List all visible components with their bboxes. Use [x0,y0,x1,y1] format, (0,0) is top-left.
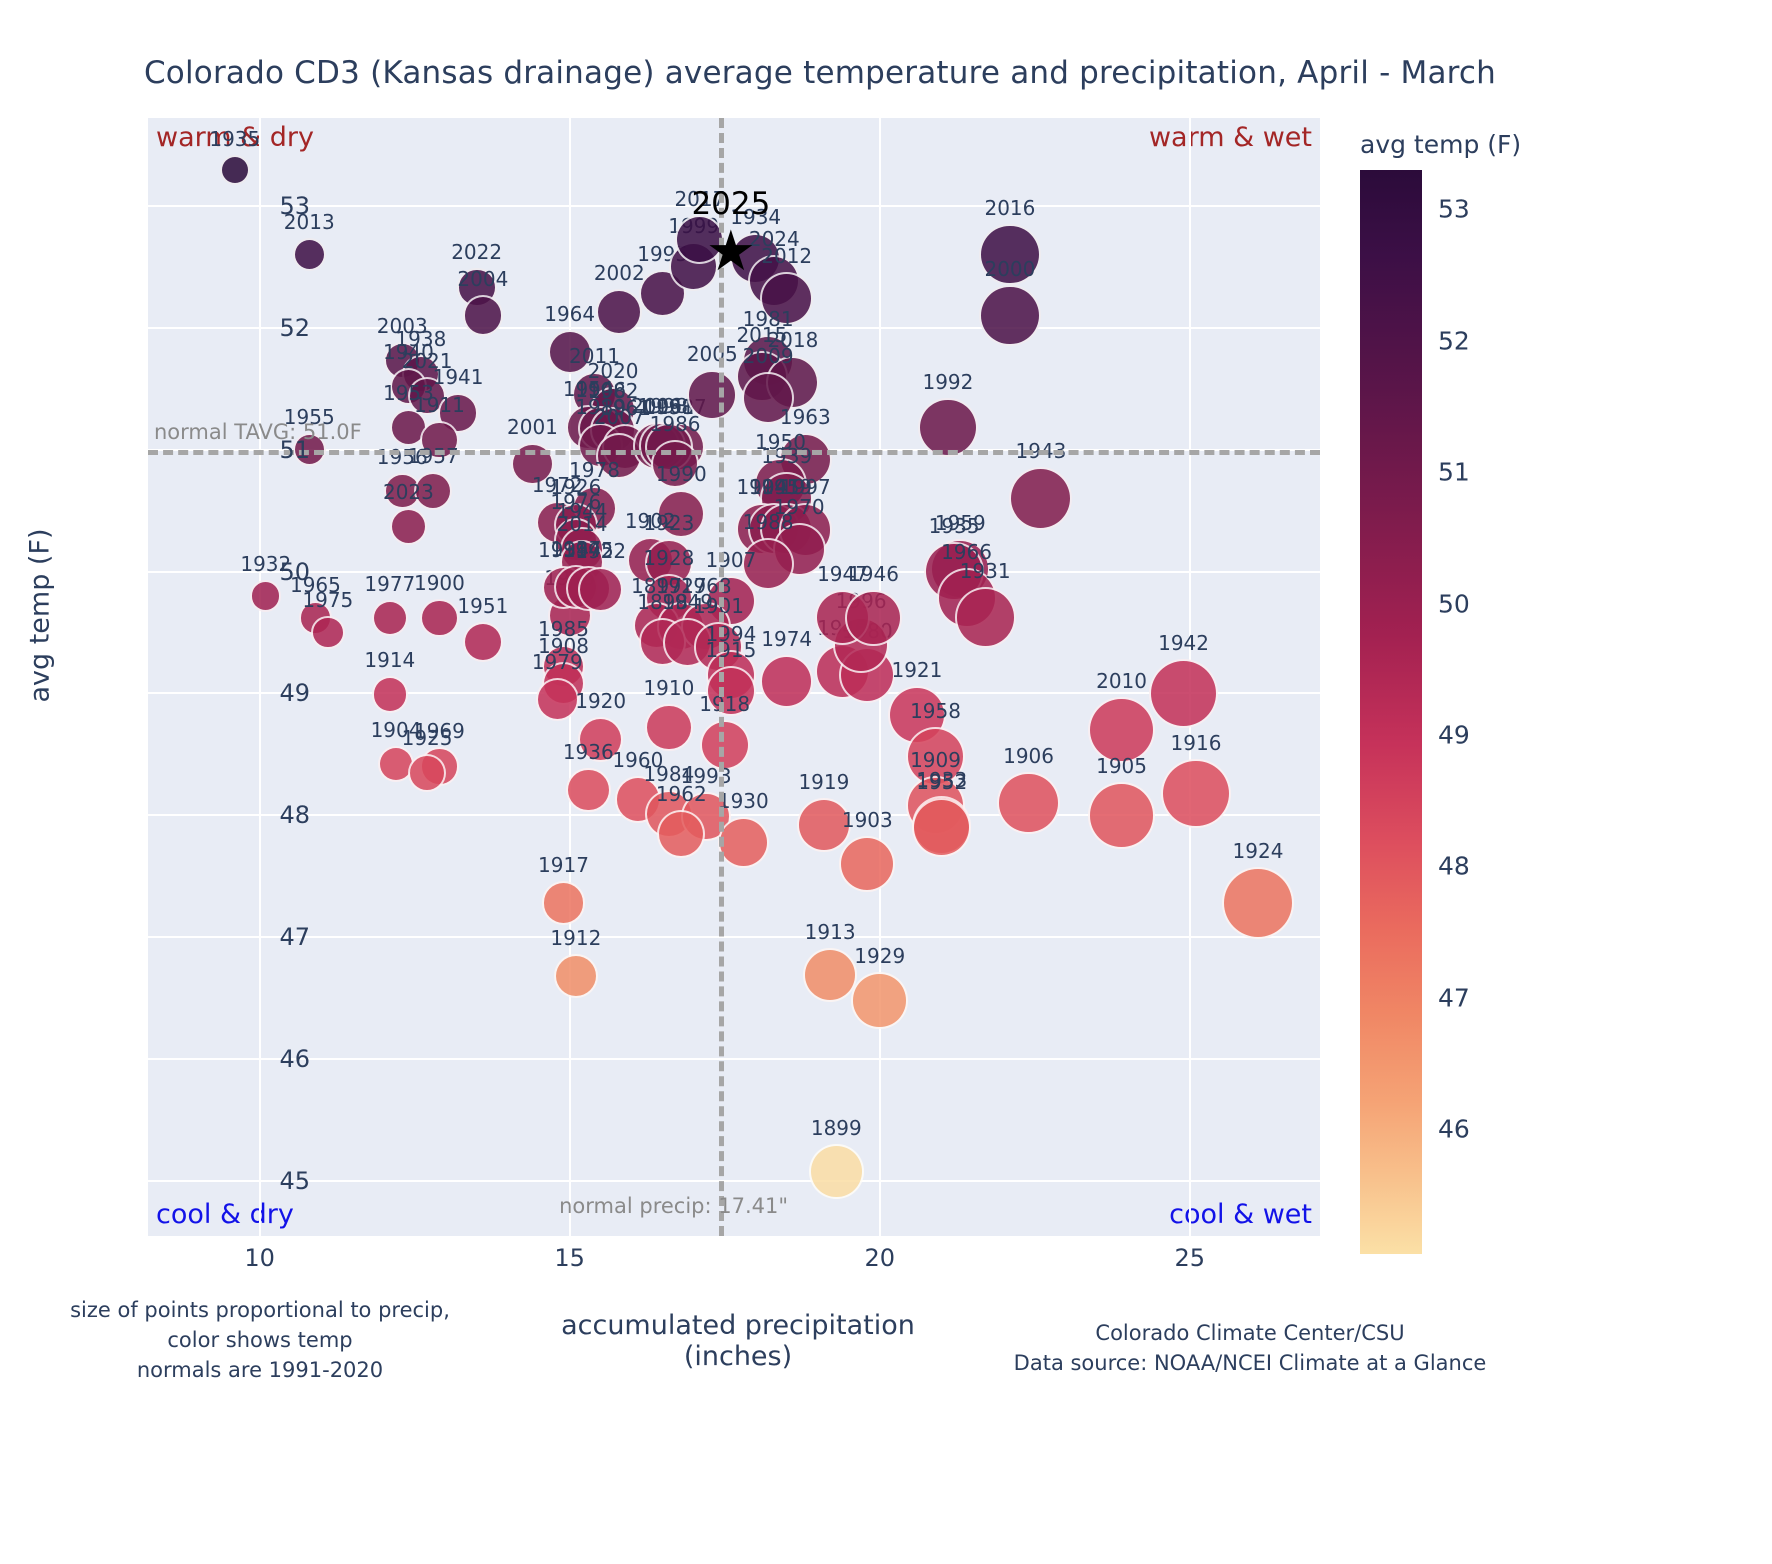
scatter-point[interactable] [311,616,345,650]
colorbar-tick-label: 53 [1438,195,1470,224]
scatter-point[interactable] [463,622,503,662]
point-label: 1935 [929,514,980,538]
scatter-point[interactable] [578,567,623,612]
point-label: 1939 [761,444,812,468]
x-tick-label: 10 [244,1244,275,1272]
point-label: 2005 [687,342,738,366]
point-label: 1912 [550,926,601,950]
x-tick-label: 20 [864,1244,895,1272]
point-label: 2010 [1096,669,1147,693]
y-tick-label: 50 [240,558,310,586]
star-icon: ★ [706,224,756,280]
point-label: 1916 [1171,731,1222,755]
scatter-point[interactable] [955,587,1016,648]
point-label: 1900 [414,571,465,595]
size-note-line3: normals are 1991-2020 [60,1356,460,1386]
scatter-point[interactable] [1161,759,1230,828]
scatter-point[interactable] [687,370,737,420]
point-label: 1952 [916,770,967,794]
y-tick-label: 49 [240,679,310,707]
scatter-point[interactable] [809,1144,864,1199]
y-axis-label: avg temp (F) [25,456,56,776]
scatter-point[interactable] [997,772,1060,835]
point-label: 1924 [1233,839,1284,863]
colorbar-tick-label: 50 [1438,589,1470,618]
scatter-point[interactable] [918,398,977,457]
gridline-horizontal [148,936,1320,938]
point-label: 1979 [532,650,583,674]
colorbar-tick-label: 49 [1438,720,1470,749]
colorbar-title: avg temp (F) [1360,130,1521,159]
point-label: 1911 [414,393,465,417]
y-tick-label: 46 [240,1045,310,1073]
point-label: 1913 [805,920,856,944]
point-label: 1946 [848,562,899,586]
x-axis-label: accumulated precipitation (inches) [508,1310,968,1372]
point-label: 1906 [1003,744,1054,768]
scatter-point[interactable] [542,881,585,924]
point-label: 1962 [656,782,707,806]
point-label: 1951 [457,594,508,618]
point-label: 2023 [383,480,434,504]
point-label: 1931 [960,559,1011,583]
colorbar-gradient [1360,170,1422,1254]
y-tick-label: 48 [240,801,310,829]
point-label: 1941 [433,365,484,389]
scatter-point[interactable] [390,508,427,545]
point-label: 2000 [984,257,1035,281]
scatter-point[interactable] [851,972,907,1028]
colorbar: avg temp (F) 5352515049484746 [1352,118,1772,1278]
colorbar-tick-label: 52 [1438,326,1470,355]
scatter-point[interactable] [408,754,446,792]
scatter-point[interactable] [845,590,901,646]
scatter-point[interactable] [1222,867,1294,939]
point-label: 1917 [538,853,589,877]
point-label: 2012 [761,244,812,268]
point-label: 1942 [1158,631,1209,655]
scatter-point[interactable] [760,655,813,708]
scatter-point[interactable] [645,704,693,752]
point-label: 1907 [705,548,756,572]
point-label: 1928 [643,546,694,570]
point-label: 1920 [575,689,626,713]
point-label: 1925 [402,726,453,750]
quadrant-label-cool-dry: cool & dry [156,1199,294,1230]
normal-tavg-line [148,450,1320,455]
y-tick-label: 47 [240,923,310,951]
gridline-horizontal [148,1058,1320,1060]
scatter-point[interactable] [803,948,857,1002]
page-title: Colorado CD3 (Kansas drainage) average t… [0,55,1640,91]
point-label: 1977 [364,572,415,596]
point-label: 1964 [544,302,595,326]
credit-block: Colorado Climate Center/CSU Data source:… [1010,1318,1490,1379]
point-label: 2004 [457,267,508,291]
scatter-point[interactable] [912,798,971,857]
x-tick-label: 15 [554,1244,585,1272]
y-tick-label: 45 [240,1167,310,1195]
scatter-point[interactable] [372,676,408,712]
point-label: 1910 [643,676,694,700]
point-label: 1922 [575,539,626,563]
point-label: 1919 [798,770,849,794]
x-tick-label: 25 [1174,1244,1205,1272]
scatter-point[interactable] [536,678,579,721]
point-label: 1903 [842,808,893,832]
scatter-point[interactable] [700,720,750,770]
size-note: size of points proportional to precip, c… [60,1296,460,1385]
chart-root: Colorado CD3 (Kansas drainage) average t… [0,0,1772,1564]
highlight-label: 2025 [691,186,770,222]
point-label: 1963 [780,405,831,429]
point-label: 1990 [656,462,707,486]
point-label: 1930 [718,789,769,813]
point-label: 1935 [209,127,260,151]
colorbar-tick-label: 51 [1438,458,1470,487]
point-label: 1958 [910,699,961,723]
colorbar-tick-label: 48 [1438,852,1470,881]
point-label: 1986 [650,412,701,436]
size-note-line1: size of points proportional to precip, [60,1296,460,1326]
scatter-point[interactable] [839,836,895,892]
y-tick-label: 52 [240,314,310,342]
scatter-point[interactable] [293,238,326,271]
point-label: 1915 [705,638,756,662]
scatter-point[interactable] [220,155,250,185]
scatter-point[interactable] [596,289,642,335]
point-label: 1988 [743,510,794,534]
point-label: 1918 [699,692,750,716]
gridline-horizontal [148,327,1320,329]
y-tick-label: 51 [240,436,310,464]
scatter-point[interactable] [372,600,408,636]
scatter-point[interactable] [718,817,769,868]
point-label: 1936 [563,740,614,764]
point-label: 2016 [984,196,1035,220]
colorbar-tick-label: 47 [1438,983,1470,1012]
point-label: 2014 [557,512,608,536]
point-label: 2009 [743,344,794,368]
scatter-point[interactable] [420,599,458,637]
point-label: 1975 [302,588,353,612]
credit-line2: Data source: NOAA/NCEI Climate at a Glan… [1010,1348,1490,1378]
quadrant-label-warm-wet: warm & wet [1149,122,1312,153]
scatter-point[interactable] [554,954,598,998]
credit-line1: Colorado Climate Center/CSU [1010,1318,1490,1348]
gridline-horizontal [148,1180,1320,1182]
point-label: 1957 [408,444,459,468]
scatter-point[interactable] [1009,467,1072,530]
scatter-point[interactable] [657,810,705,858]
scatter-point[interactable] [566,768,611,813]
scatter-point[interactable] [1149,659,1218,728]
point-label: 1929 [854,944,905,968]
point-label: 1923 [643,511,694,535]
point-label: 1921 [891,658,942,682]
normal-precip-label: normal precip: 17.41" [559,1194,788,1218]
point-label: 2022 [451,240,502,264]
scatter-point[interactable] [463,295,503,335]
size-note-line2: color shows temp [60,1326,460,1356]
point-label: 1905 [1096,754,1147,778]
scatter-point[interactable] [1088,782,1154,848]
y-tick-label: 53 [240,192,310,220]
plot-area: warm & dry warm & wet cool & dry cool & … [148,118,1320,1236]
point-label: 1992 [922,370,973,394]
point-label: 1899 [811,1116,862,1140]
colorbar-tick-label: 46 [1438,1115,1470,1144]
scatter-point[interactable] [979,285,1041,347]
point-label: 1974 [761,627,812,651]
point-label: 2001 [507,415,558,439]
point-label: 1914 [364,648,415,672]
normal-precip-line [719,118,724,1236]
